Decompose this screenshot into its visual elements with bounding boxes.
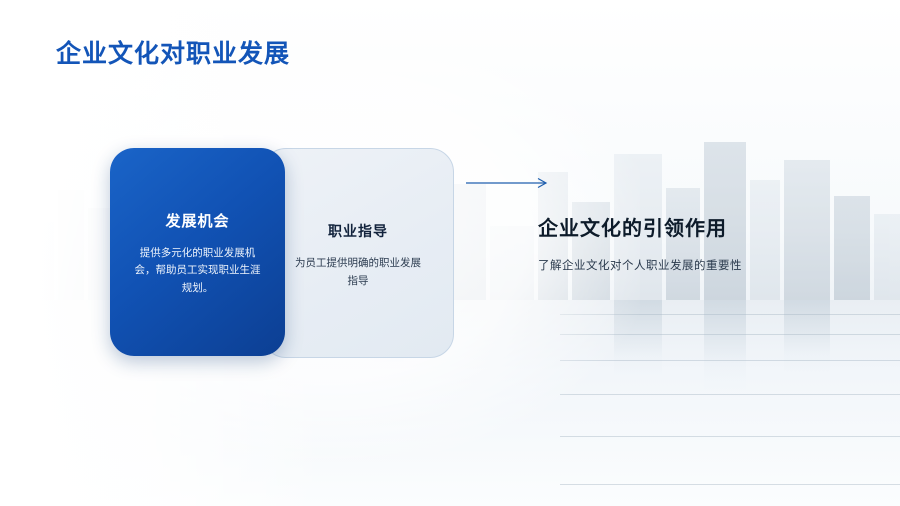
card-body: 为员工提供明确的职业发展指导: [293, 255, 423, 291]
slide-canvas: 企业文化对职业发展 职业指导 为员工提供明确的职业发展指导 发展机会 提供多元化…: [0, 0, 900, 506]
title-block: 企业文化对职业发展: [56, 34, 290, 70]
card-development-opportunity[interactable]: 发展机会 提供多元化的职业发展机会，帮助员工实现职业生涯规划。: [110, 148, 285, 356]
page-title: 企业文化对职业发展: [56, 34, 290, 70]
right-text-block: 企业文化的引领作用 了解企业文化对个人职业发展的重要性: [538, 212, 868, 273]
card-body: 提供多元化的职业发展机会，帮助员工实现职业生涯规划。: [132, 245, 263, 297]
right-heading: 企业文化的引领作用: [538, 212, 868, 241]
card-title: 职业指导: [263, 221, 453, 241]
card-title: 发展机会: [110, 210, 285, 231]
building: [874, 214, 900, 300]
card-career-guidance[interactable]: 职业指导 为员工提供明确的职业发展指导: [262, 148, 454, 358]
arrow-right-icon: [466, 176, 556, 190]
right-subtitle: 了解企业文化对个人职业发展的重要性: [538, 257, 868, 273]
